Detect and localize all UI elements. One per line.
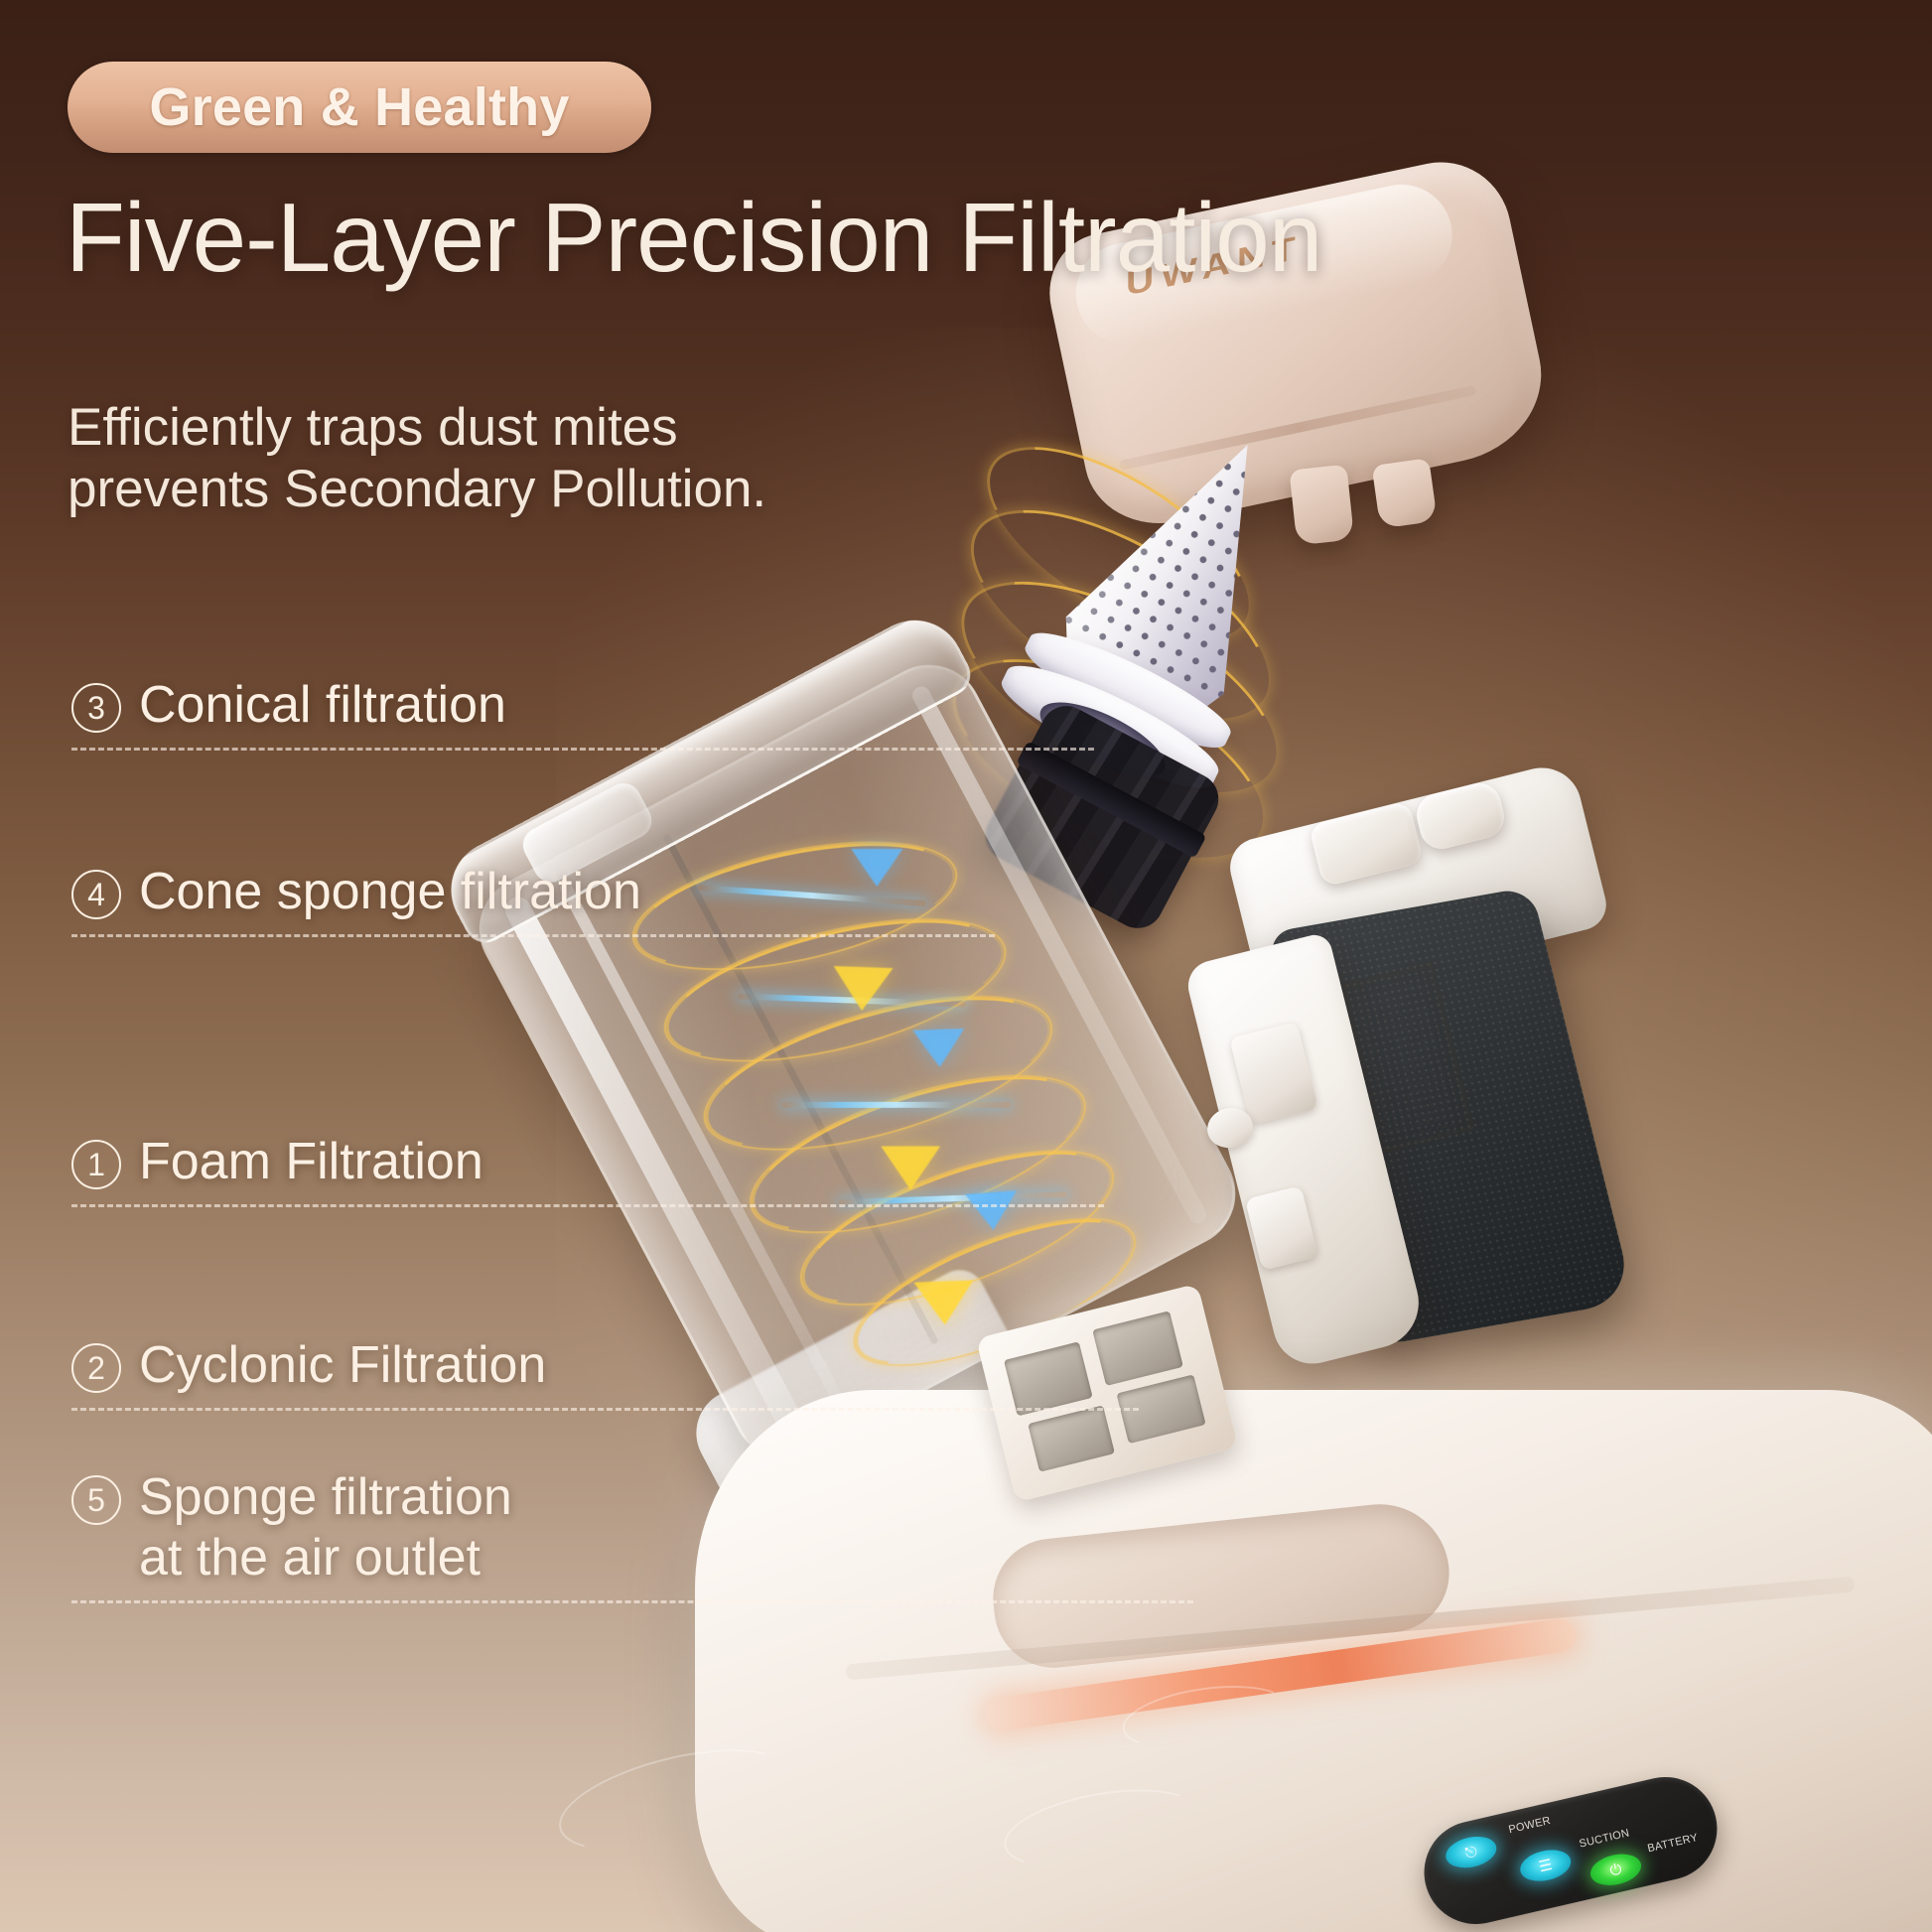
handle-housing (1187, 794, 1882, 1489)
divider-dashed (71, 1204, 1104, 1207)
filtration-label-sponge: Sponge filtration (139, 1467, 512, 1528)
grip-texture (1267, 887, 1635, 1347)
airflow-arrow-gold (913, 1280, 974, 1325)
airflow-wisp (549, 1729, 801, 1870)
filtration-item-conical: 3 Conical filtration (71, 675, 1094, 751)
filtration-item-cone-sponge: 4 Cone sponge filtration (71, 862, 995, 937)
filtration-row: 2 Cyclonic Filtration (71, 1335, 1139, 1396)
power-indicator-label: POWER (1507, 1815, 1552, 1836)
filtration-row: 5 Sponge filtration (71, 1467, 1193, 1528)
filtration-row: 4 Cone sponge filtration (71, 862, 995, 922)
divider-dashed (71, 1600, 1193, 1603)
filtration-label-cyclonic: Cyclonic Filtration (139, 1335, 546, 1396)
filtration-label-cone-sponge: Cone sponge filtration (139, 862, 641, 922)
page-subtitle: Efficiently traps dust mites prevents Se… (68, 397, 782, 520)
divider-dashed (71, 934, 995, 937)
handle-top-cap (1224, 759, 1611, 1010)
airflow-wisp (998, 1776, 1205, 1881)
airflow-streak (738, 994, 966, 1008)
airflow-halo (957, 409, 1278, 676)
airflow-arrow-blue (912, 1029, 965, 1068)
divider-dashed (71, 1408, 1139, 1411)
filtration-row: 1 Foam Filtration (71, 1132, 1104, 1192)
poster-canvas: UWANT (0, 0, 1932, 1932)
filtration-item-cyclonic: 2 Cyclonic Filtration (71, 1335, 1139, 1411)
handle-detail (1229, 1022, 1318, 1125)
green-healthy-badge: Green & Healthy (68, 62, 651, 153)
airflow-streak (782, 1102, 1011, 1108)
handle-button (1309, 800, 1424, 887)
step-number-5: 5 (71, 1475, 121, 1525)
lid-latch-leg (1372, 458, 1438, 528)
handle-foam-filter (1332, 961, 1474, 1156)
filtration-item-foam: 1 Foam Filtration (71, 1132, 1104, 1207)
filtration-item-sponge-outlet: 5 Sponge filtration at the air outlet (71, 1467, 1193, 1603)
subtitle-line-1: Efficiently traps dust mites (68, 397, 782, 459)
uv-light-strip (984, 1616, 1579, 1732)
main-body-base (695, 1330, 1932, 1932)
grille-cell (1028, 1405, 1115, 1471)
step-number-3: 3 (71, 683, 121, 733)
handle-detail (1203, 1103, 1257, 1153)
handle-button (1413, 778, 1509, 853)
handle-front-panel (1182, 931, 1428, 1372)
handle-grip (1267, 887, 1635, 1347)
battery-indicator-label: BATTERY (1646, 1832, 1699, 1855)
airflow-wisp (1119, 1676, 1295, 1758)
control-panel[interactable]: ⎋ ☰ ⏻ POWER SUCTION BATTERY (1414, 1767, 1727, 1932)
step-number-2: 2 (71, 1343, 121, 1393)
airflow-arrow-gold (832, 966, 893, 1012)
step-number-4: 4 (71, 870, 121, 919)
badge-label: Green & Healthy (149, 76, 569, 138)
battery-indicator-icon: ⏻ (1587, 1850, 1644, 1890)
lid-seam (1119, 385, 1477, 471)
suction-indicator-icon: ☰ (1517, 1846, 1574, 1886)
handle-detail (1245, 1185, 1318, 1271)
filtration-row-continued: at the air outlet (71, 1528, 1193, 1588)
divider-dashed (71, 748, 1094, 751)
page-title: Five-Layer Precision Filtration (66, 187, 1257, 289)
filtration-label-sponge-line2: at the air outlet (139, 1529, 481, 1587)
filtration-label-foam: Foam Filtration (139, 1132, 483, 1192)
power-indicator-icon: ⎋ (1443, 1832, 1499, 1872)
airflow-halo (924, 619, 1292, 898)
step-number-1: 1 (71, 1140, 121, 1189)
suction-indicator-label: SUCTION (1578, 1827, 1630, 1850)
filtration-label-conical: Conical filtration (139, 675, 506, 736)
filtration-row: 3 Conical filtration (71, 675, 1094, 736)
subtitle-line-2: prevents Secondary Pollution. (68, 459, 782, 520)
lid-latch-leg (1290, 465, 1355, 546)
sleeve-band (1016, 741, 1206, 859)
